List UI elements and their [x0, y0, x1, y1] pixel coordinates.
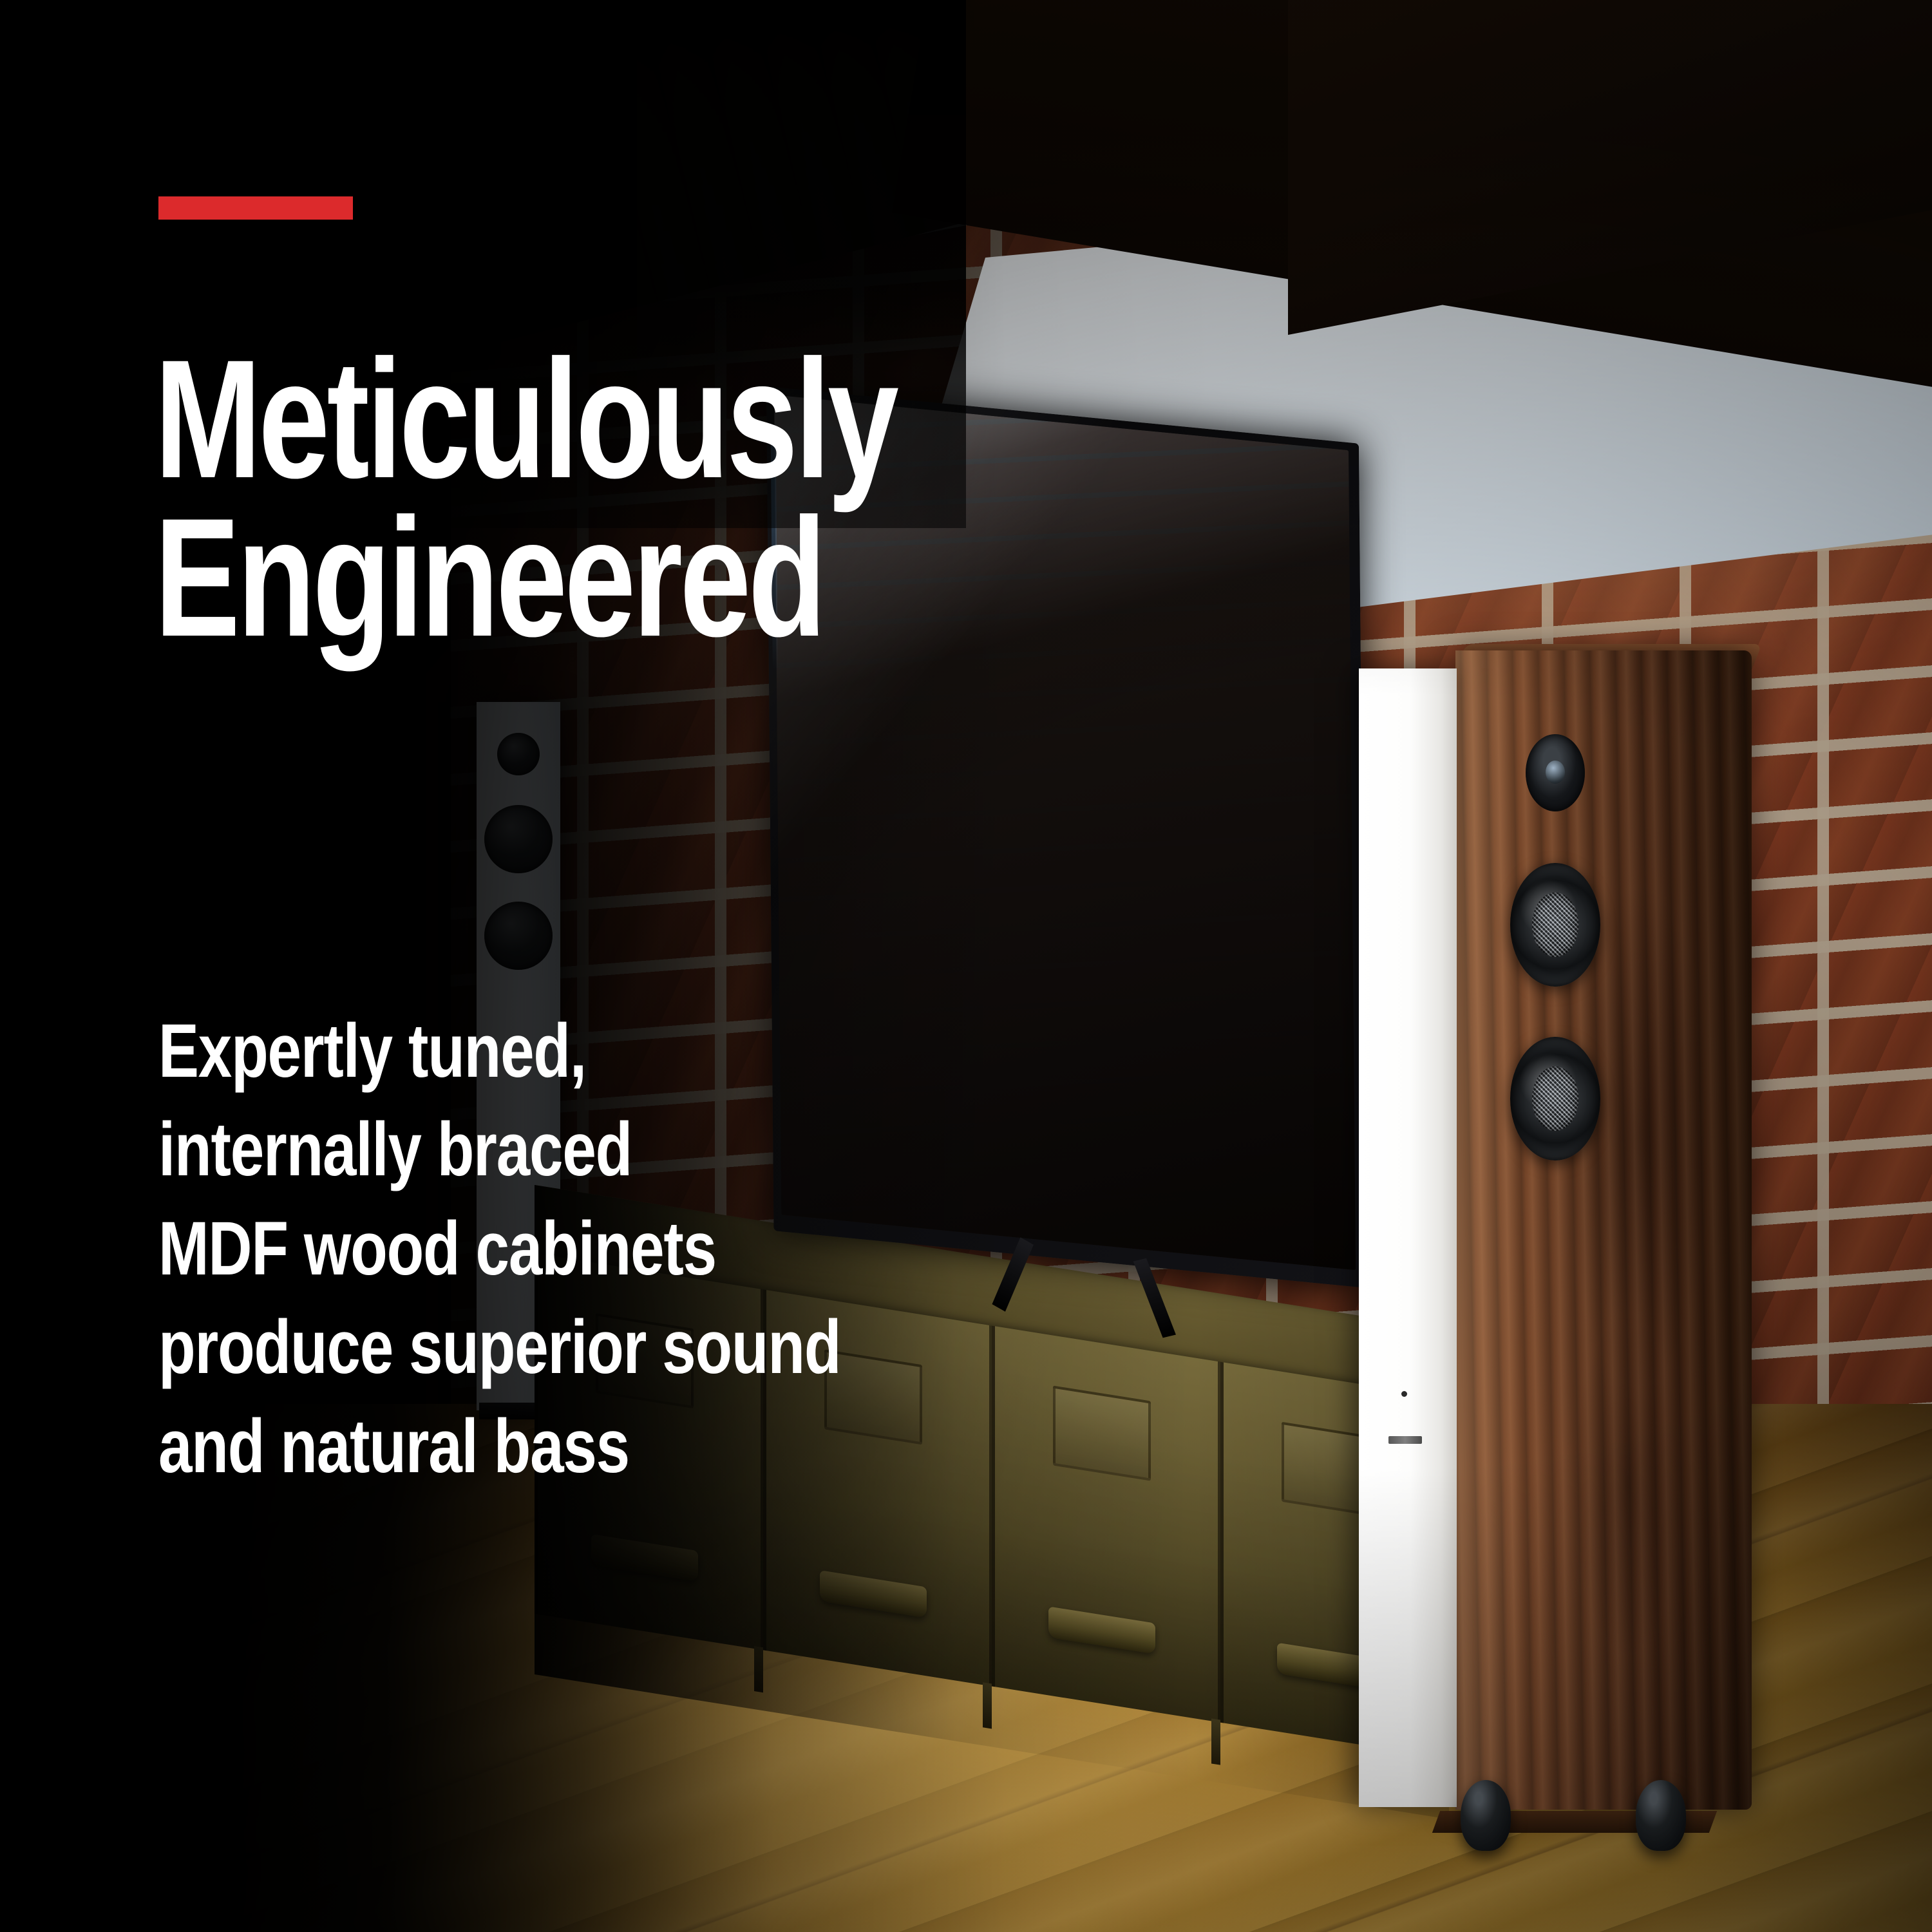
promo-banner: Meticulously Engineered Expertly tuned, … — [0, 0, 1932, 1932]
text-overlay: Meticulously Engineered Expertly tuned, … — [0, 0, 1932, 1932]
page-title: Meticulously Engineered — [155, 340, 1036, 658]
accent-rule — [158, 196, 353, 220]
subtitle-copy: Expertly tuned, internally braced MDF wo… — [158, 1002, 1137, 1496]
